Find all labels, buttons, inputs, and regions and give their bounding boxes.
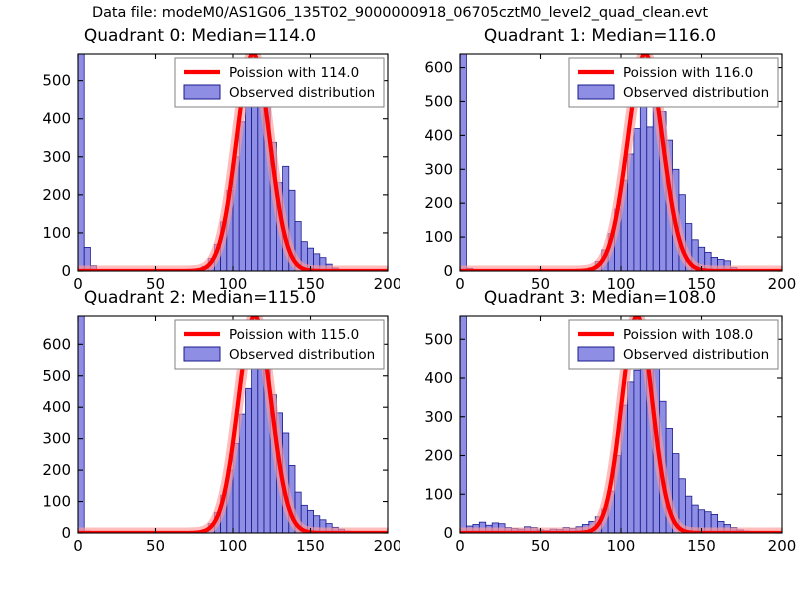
y-tick-label: 100 <box>424 228 453 246</box>
y-tick-label: 600 <box>424 59 453 77</box>
x-tick-label: 150 <box>687 537 716 555</box>
quadrant-0-legend[interactable]: Poission with 114.0Observed distribution <box>175 58 384 107</box>
y-tick-label: 200 <box>42 461 71 479</box>
quadrant-1-plot: 0501001502000100200300400500600Poission … <box>400 26 800 298</box>
y-tick-label: 100 <box>42 493 71 511</box>
quadrant-2-plot: 0501001502000100200300400500600Poission … <box>0 288 400 560</box>
quadrant-3-plot: 0501001502000100200300400500Poission wit… <box>400 288 800 560</box>
histogram-bar <box>78 54 84 271</box>
x-tick-label: 100 <box>219 537 248 555</box>
quadrant-0-title: Quadrant 0: Median=114.0 <box>0 26 400 46</box>
y-tick-label: 100 <box>42 224 71 242</box>
y-tick-label: 500 <box>424 92 453 110</box>
histogram-bar <box>640 106 646 271</box>
x-tick-label: 200 <box>374 537 400 555</box>
y-tick-label: 0 <box>443 262 453 280</box>
x-tick-label: 0 <box>455 537 465 555</box>
y-tick-label: 300 <box>42 148 71 166</box>
y-tick-label: 400 <box>424 369 453 387</box>
quadrant-2-title: Quadrant 2: Median=115.0 <box>0 288 400 308</box>
y-tick-label: 400 <box>42 398 71 416</box>
subplot-quadrant-2: Quadrant 2: Median=115.00501001502000100… <box>0 288 400 560</box>
legend-label-observed: Observed distribution <box>229 347 375 363</box>
histogram-bar <box>78 316 84 533</box>
x-tick-label: 50 <box>531 537 550 555</box>
y-tick-label: 300 <box>424 160 453 178</box>
quadrant-1-title: Quadrant 1: Median=116.0 <box>400 26 800 46</box>
subplot-quadrant-0: Quadrant 0: Median=114.00501001502000100… <box>0 26 400 298</box>
y-tick-label: 600 <box>42 335 71 353</box>
legend-label-poisson: Poission with 114.0 <box>229 65 359 81</box>
legend-label-observed: Observed distribution <box>623 347 769 363</box>
y-tick-label: 0 <box>61 524 71 542</box>
histogram-bar <box>647 127 653 271</box>
y-tick-label: 500 <box>42 72 71 90</box>
y-tick-label: 400 <box>42 110 71 128</box>
y-tick-label: 200 <box>424 447 453 465</box>
y-tick-label: 300 <box>42 430 71 448</box>
quadrant-3-legend[interactable]: Poission with 108.0Observed distribution <box>569 320 778 369</box>
subplot-quadrant-3: Quadrant 3: Median=108.00501001502000100… <box>400 288 800 560</box>
histogram-bar <box>239 414 245 533</box>
y-tick-label: 500 <box>424 330 453 348</box>
y-tick-label: 0 <box>443 524 453 542</box>
x-tick-label: 0 <box>73 537 83 555</box>
quadrant-0-plot: 0501001502000100200300400500Poission wit… <box>0 26 400 298</box>
histogram-bar <box>634 370 640 533</box>
histogram-bar <box>245 388 251 533</box>
x-tick-label: 200 <box>768 537 797 555</box>
legend-label-poisson: Poission with 115.0 <box>229 327 359 343</box>
legend-label-poisson: Poission with 116.0 <box>623 65 753 81</box>
y-tick-label: 200 <box>42 186 71 204</box>
y-tick-label: 0 <box>61 262 71 280</box>
histogram-bar <box>460 54 466 271</box>
y-tick-label: 300 <box>424 408 453 426</box>
quadrant-2-legend[interactable]: Poission with 115.0Observed distribution <box>175 320 384 369</box>
legend-patch-swatch <box>578 85 614 99</box>
legend-label-observed: Observed distribution <box>229 85 375 101</box>
x-tick-label: 50 <box>146 537 165 555</box>
x-tick-label: 150 <box>296 537 325 555</box>
quadrant-1-legend[interactable]: Poission with 116.0Observed distribution <box>569 58 778 107</box>
figure-suptitle: Data file: modeM0/AS1G06_135T02_90000009… <box>0 5 800 21</box>
legend-patch-swatch <box>184 347 220 361</box>
histogram-bar <box>460 316 466 533</box>
quadrant-3-title: Quadrant 3: Median=108.0 <box>400 288 800 308</box>
subplot-quadrant-1: Quadrant 1: Median=116.00501001502000100… <box>400 26 800 298</box>
histogram-bar <box>252 358 258 533</box>
histogram-bar <box>245 91 251 271</box>
histogram-bar <box>627 382 633 533</box>
x-tick-label: 100 <box>607 537 636 555</box>
legend-label-observed: Observed distribution <box>623 85 769 101</box>
y-tick-label: 200 <box>424 194 453 212</box>
legend-patch-swatch <box>184 85 220 99</box>
legend-patch-swatch <box>578 347 614 361</box>
histogram-bar <box>634 129 640 271</box>
y-tick-label: 100 <box>424 485 453 503</box>
legend-label-poisson: Poission with 108.0 <box>623 327 753 343</box>
y-tick-label: 400 <box>424 126 453 144</box>
figure-canvas: Data file: modeM0/AS1G06_135T02_90000009… <box>0 0 800 600</box>
y-tick-label: 500 <box>42 367 71 385</box>
